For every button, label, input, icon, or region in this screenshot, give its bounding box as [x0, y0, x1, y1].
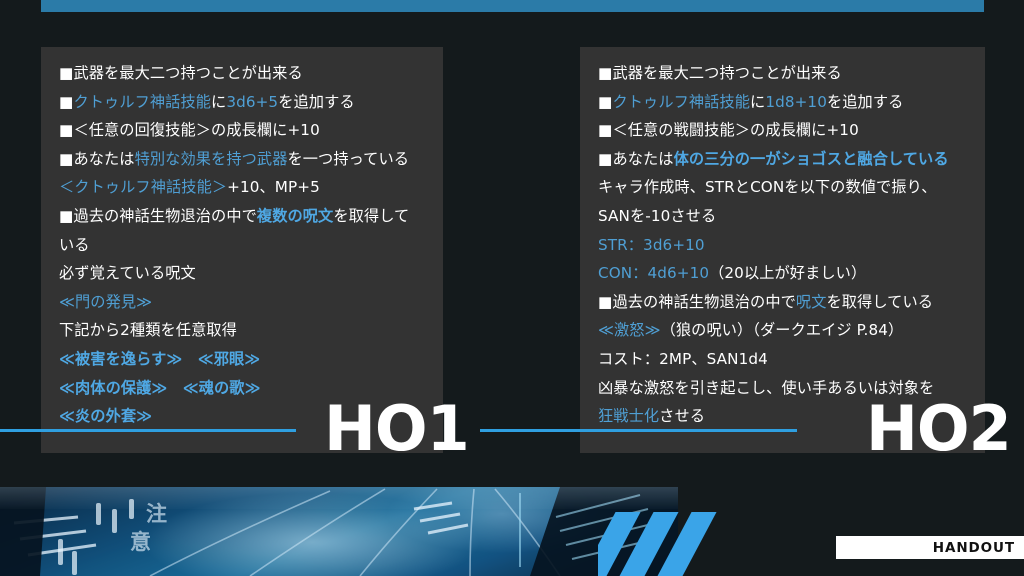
text-line: ■あなたは特別な効果を持つ武器を一つ持っている — [59, 145, 429, 174]
text-run: 体の三分の一がショゴスと融合している — [674, 150, 949, 168]
ho1-title: HO1 — [324, 398, 469, 460]
text-run: を一つ持っている — [287, 150, 409, 168]
bottom-photo: 注 意 — [0, 487, 678, 576]
text-line: 下記から2種類を任意取得 — [59, 316, 429, 345]
accent-rule-ho2 — [480, 429, 797, 432]
text-line: SANを-10させる — [598, 202, 971, 231]
top-accent-bar — [41, 0, 984, 12]
text-run: ■ — [59, 93, 73, 111]
text-run: ■＜任意の回復技能＞の成長欄に+10 — [59, 121, 320, 139]
text-run: を取得している — [826, 293, 933, 311]
text-run: 3d6+5 — [226, 93, 278, 111]
text-run: に — [750, 93, 765, 111]
text-run: 呪文 — [796, 293, 827, 311]
text-line: ■武器を最大二つ持つことが出来る — [59, 59, 429, 88]
panel-ho1-lines: ■武器を最大二つ持つことが出来る■クトゥルフ神話技能に3d6+5を追加する■＜任… — [59, 59, 429, 431]
text-line: ■クトゥルフ神話技能に1d8+10を追加する — [598, 88, 971, 117]
text-line: コスト：2MP、SAN1d4 — [598, 345, 971, 374]
photo-artwork: 注 意 — [0, 487, 678, 576]
text-run: ■＜任意の戦闘技能＞の成長欄に+10 — [598, 121, 859, 139]
text-line: ■クトゥルフ神話技能に3d6+5を追加する — [59, 88, 429, 117]
text-run: ■あなたは — [59, 150, 135, 168]
text-run: を取得して — [333, 207, 409, 225]
text-run: ■武器を最大二つ持つことが出来る — [598, 64, 842, 82]
text-run: ■武器を最大二つ持つことが出来る — [59, 64, 303, 82]
text-line: ■あなたは体の三分の一がショゴスと融合している — [598, 145, 971, 174]
text-line: ■＜任意の戦闘技能＞の成長欄に+10 — [598, 116, 971, 145]
handout-badge: HANDOUT — [836, 536, 1024, 559]
text-run: ≪門の発見≫ — [59, 293, 152, 311]
panel-ho2-lines: ■武器を最大二つ持つことが出来る■クトゥルフ神話技能に1d8+10を追加する■＜… — [598, 59, 971, 431]
text-run: を追加する — [278, 93, 354, 111]
text-run: ■過去の神話生物退治の中で — [59, 207, 257, 225]
text-run: SANを-10させる — [598, 207, 716, 225]
text-line: ■武器を最大二つ持つことが出来る — [598, 59, 971, 88]
text-run: ≪被害を逸らす≫ ≪邪眼≫ — [59, 350, 260, 368]
text-run: ■あなたは — [598, 150, 674, 168]
text-run: コスト：2MP、SAN1d4 — [598, 350, 768, 368]
text-run: 複数の呪文 — [257, 207, 333, 225]
svg-text:意: 意 — [130, 530, 151, 554]
text-line: ■過去の神話生物退治の中で複数の呪文を取得して — [59, 202, 429, 231]
text-run: 下記から2種類を任意取得 — [59, 321, 237, 339]
text-run: 必ず覚えている呪文 — [59, 264, 196, 282]
text-line: STR：3d6+10 — [598, 231, 971, 260]
text-run: 狂戦士化 — [598, 407, 659, 425]
text-run: ■ — [598, 93, 612, 111]
accent-rule-ho1 — [0, 429, 296, 432]
text-run: いる — [59, 236, 90, 254]
text-line: いる — [59, 231, 429, 260]
text-run: に — [211, 93, 226, 111]
text-run: ■過去の神話生物退治の中で — [598, 293, 796, 311]
text-line: ＜クトゥルフ神話技能＞+10、MP+5 — [59, 173, 429, 202]
text-line: ■過去の神話生物退治の中で呪文を取得している — [598, 288, 971, 317]
text-run: させる — [659, 407, 705, 425]
diagonal-stripes — [598, 512, 722, 576]
text-line: ≪激怒≫（狼の呪い）（ダークエイジ P.84） — [598, 316, 971, 345]
text-run: （狼の呪い）（ダークエイジ P.84） — [661, 321, 904, 339]
text-run: 1d8+10 — [765, 93, 827, 111]
text-line: ≪門の発見≫ — [59, 288, 429, 317]
text-line: ■＜任意の回復技能＞の成長欄に+10 — [59, 116, 429, 145]
ho2-title: HO2 — [866, 398, 1011, 460]
text-run: ＜クトゥルフ神話技能＞ — [59, 178, 227, 196]
slide-root: ■武器を最大二つ持つことが出来る■クトゥルフ神話技能に3d6+5を追加する■＜任… — [0, 0, 1024, 576]
text-line: ≪被害を逸らす≫ ≪邪眼≫ — [59, 345, 429, 374]
text-run: +10、MP+5 — [227, 178, 320, 196]
text-run: クトゥルフ神話技能 — [73, 93, 211, 111]
text-run: を追加する — [827, 93, 903, 111]
text-run: ≪肉体の保護≫ ≪魂の歌≫ — [59, 379, 261, 397]
text-run: ≪炎の外套≫ — [59, 407, 152, 425]
text-line: キャラ作成時、STRとCONを以下の数値で振り、 — [598, 173, 971, 202]
text-run: キャラ作成時、STRとCONを以下の数値で振り、 — [598, 178, 937, 196]
text-run: CON：4d6+10 — [598, 264, 709, 282]
text-line: 必ず覚えている呪文 — [59, 259, 429, 288]
text-run: 特別な効果を持つ武器 — [135, 150, 288, 168]
text-run: STR：3d6+10 — [598, 236, 705, 254]
text-run: ≪激怒≫ — [598, 321, 661, 339]
text-run: （20以上が好ましい） — [709, 264, 866, 282]
text-line: CON：4d6+10（20以上が好ましい） — [598, 259, 971, 288]
text-run: クトゥルフ神話技能 — [612, 93, 750, 111]
